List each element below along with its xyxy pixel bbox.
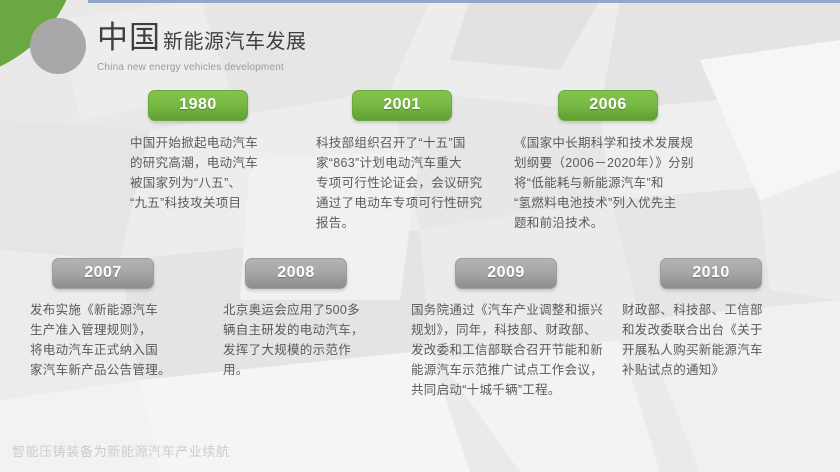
timeline-text-1980: 中国开始掀起电动汽车 的研究高潮，电动汽车 被国家列为“八五”、 “九五”科技攻… — [130, 133, 328, 213]
page-header: 中国 新能源汽车发展 China new energy vehicles dev… — [97, 22, 307, 73]
timeline-text-2008: 北京奥运会应用了500多 辆自主研发的电动汽车， 发挥了大规模的示范作 用。 — [223, 300, 431, 380]
top-accent-rule — [88, 0, 840, 3]
year-badge-2001[interactable]: 2001 — [352, 90, 452, 121]
timeline-text-2001: 科技部组织召开了“十五”国 家“863”计划电动汽车重大 专项可行性论证会，会议… — [316, 133, 544, 233]
page-title-sub: 新能源汽车发展 — [163, 32, 307, 52]
timeline-item-2008: 2008 北京奥运会应用了500多 辆自主研发的电动汽车， 发挥了大规模的示范作… — [245, 258, 431, 380]
timeline-text-2009: 国务院通过《汽车产业调整和振兴 规划》，同年，科技部、财政部、 发改委和工信部联… — [411, 300, 655, 400]
timeline-item-2006: 2006 《国家中长期科学和技术发展规 划纲要（2006－2020年）》分别 将… — [558, 90, 758, 233]
timeline-item-2007: 2007 发布实施《新能源汽车 生产准入管理规则》， 将电动汽车正式纳入国 家汽… — [52, 258, 232, 380]
year-badge-2010[interactable]: 2010 — [660, 258, 762, 289]
year-badge-2008[interactable]: 2008 — [245, 258, 347, 289]
timeline-text-2007: 发布实施《新能源汽车 生产准入管理规则》， 将电动汽车正式纳入国 家汽车新产品公… — [30, 300, 232, 380]
gray-circle-decoration — [30, 18, 86, 74]
year-badge-2009[interactable]: 2009 — [455, 258, 557, 289]
page-title-main: 中国 — [97, 22, 161, 53]
timeline-text-2006: 《国家中长期科学和技术发展规 划纲要（2006－2020年）》分别 将“低能耗与… — [514, 133, 758, 233]
page-title: 中国 新能源汽车发展 — [97, 22, 307, 53]
timeline-item-2010: 2010 财政部、科技部、工信部 和发改委联合出台《关于 开展私人购买新能源汽车… — [660, 258, 840, 380]
year-badge-1980[interactable]: 1980 — [148, 90, 248, 121]
year-badge-2006[interactable]: 2006 — [558, 90, 658, 121]
page-subtitle-english: China new energy vehicles development — [97, 62, 307, 73]
footer-tagline: 智能压铸装备为新能源汽车产业续航 — [12, 441, 230, 460]
timeline-text-2010: 财政部、科技部、工信部 和发改委联合出台《关于 开展私人购买新能源汽车 补贴试点… — [622, 300, 840, 380]
slide-canvas: 中国 新能源汽车发展 China new energy vehicles dev… — [0, 0, 840, 472]
timeline-item-1980: 1980 中国开始掀起电动汽车 的研究高潮，电动汽车 被国家列为“八五”、 “九… — [148, 90, 328, 213]
year-badge-2007[interactable]: 2007 — [52, 258, 154, 289]
